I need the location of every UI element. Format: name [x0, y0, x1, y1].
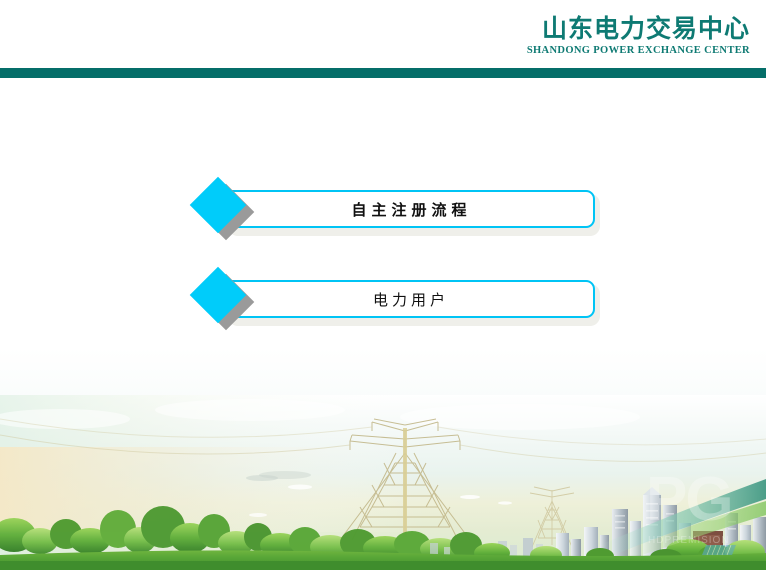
scenery-illustration: PG HDPREMISION — [0, 395, 766, 570]
menu-item-power-user[interactable]: 电力用户 — [190, 268, 600, 320]
menu-item-label: 自主注册流程 — [346, 199, 471, 220]
pill-frame[interactable]: 自主注册流程 — [223, 190, 595, 228]
menu-item-label: 电力用户 — [369, 289, 449, 310]
menu-item-autonomous-registration-process[interactable]: 自主注册流程 — [190, 178, 600, 230]
pill-frame[interactable]: 电力用户 — [223, 280, 595, 318]
slide-root: PG HDPREMISION 山东电力交易中心 SHANDONG POWER E… — [0, 0, 766, 570]
brand-logo-cn: 山东电力交易中心 — [527, 16, 750, 41]
brand-logo-en: SHANDONG POWER EXCHANGE CENTER — [527, 45, 750, 57]
slide-header: 山东电力交易中心 SHANDONG POWER EXCHANGE CENTER — [0, 0, 766, 68]
header-divider-bar — [0, 68, 766, 78]
brand-logo: 山东电力交易中心 SHANDONG POWER EXCHANGE CENTER — [527, 16, 750, 57]
